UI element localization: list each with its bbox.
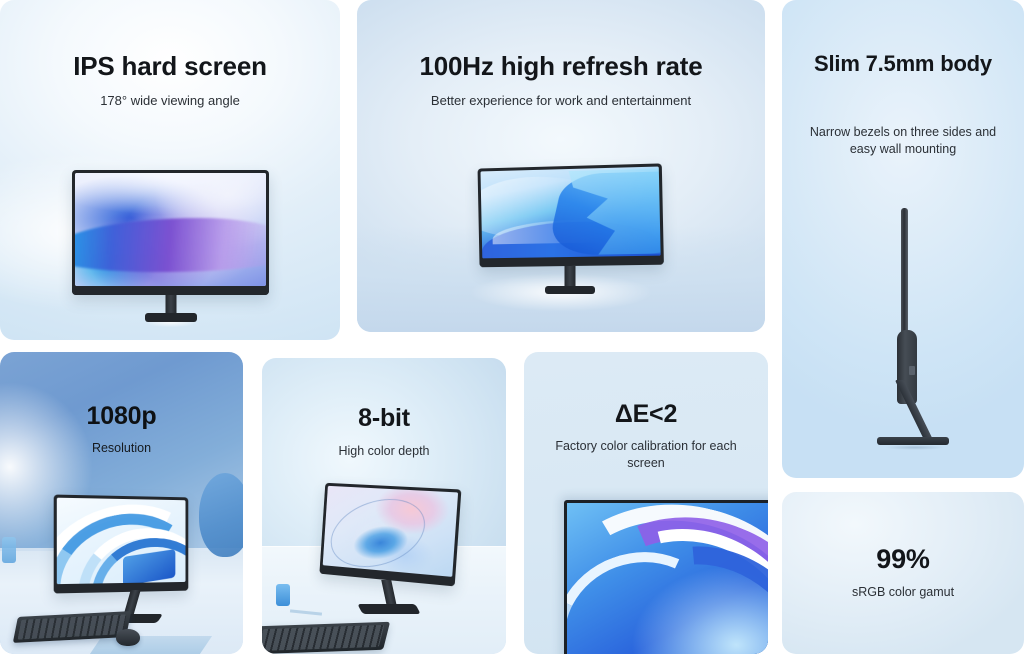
monitor-chin [72,286,269,295]
feature-grid: IPS hard screen 178° wide viewing angle … [0,0,1024,654]
monitor-stand-ips [72,295,269,323]
panel-srgb-gamut: 99% sRGB color gamut [782,492,1024,654]
decor-cup [276,584,290,606]
wallpaper-wave [75,173,266,286]
monitor-base [145,313,197,322]
panel-subtitle-gamut: sRGB color gamut [782,584,1024,601]
monitor-screen [57,498,186,584]
monitor-port [909,366,915,375]
panel-color-calibration: ΔE<2 Factory color calibration for each … [524,352,768,654]
monitor-neck [381,580,397,606]
monitor-stand-color-depth [346,580,432,616]
monitor-neck [564,266,575,287]
decor-vase [199,473,243,557]
panel-title-color-depth: 8-bit [262,404,506,432]
wallpaper-arcs [57,498,186,584]
monitor-neck [165,295,176,314]
monitor-front-resolution [54,495,189,594]
monitor-base [357,604,420,614]
monitor-screen [481,167,661,259]
wallpaper-swirl [567,503,768,654]
wallpaper-pastel [323,486,458,577]
monitor-screen [75,173,266,286]
monitor-screen [323,486,458,577]
panel-resolution: 1080p Resolution [0,352,243,654]
monitor-screen [567,503,768,654]
mouse [116,629,140,646]
panel-title-refresh: 100Hz high refresh rate [357,52,765,81]
panel-refresh-rate: 100Hz high refresh rate Better experienc… [357,0,765,332]
panel-title-resolution: 1080p [0,402,243,430]
panel-slim-body: Slim 7.5mm body Narrow bezels on three s… [782,0,1024,478]
panel-title-slim: Slim 7.5mm body [782,52,1024,77]
monitor-closeup-calibration [564,500,768,654]
desk-mat [90,636,212,654]
panel-subtitle-resolution: Resolution [0,440,243,457]
panel-ips-hard-screen: IPS hard screen 178° wide viewing angle [0,0,340,340]
monitor-base [545,286,595,294]
panel-subtitle-color-depth: High color depth [262,443,506,460]
monitor-front-ips [72,170,269,295]
panel-title-ips: IPS hard screen [0,52,340,81]
monitor-front-color-depth [319,483,461,587]
monitor-shadow [874,444,956,451]
keyboard [262,622,390,654]
panel-title-calibration: ΔE<2 [524,400,768,428]
decor-cup [2,537,16,563]
monitor-front-refresh [478,163,664,267]
monitor-stand-refresh [477,266,662,296]
panel-color-depth: 8-bit High color depth [262,358,506,654]
monitor-reflection-ips [72,322,269,336]
panel-subtitle-ips: 178° wide viewing angle [0,92,340,110]
panel-subtitle-refresh: Better experience for work and entertain… [357,92,765,110]
panel-subtitle-slim: Narrow bezels on three sides and easy wa… [782,124,1024,158]
panel-subtitle-calibration: Factory color calibration for each scree… [524,438,768,472]
panel-title-gamut: 99% [782,544,1024,574]
